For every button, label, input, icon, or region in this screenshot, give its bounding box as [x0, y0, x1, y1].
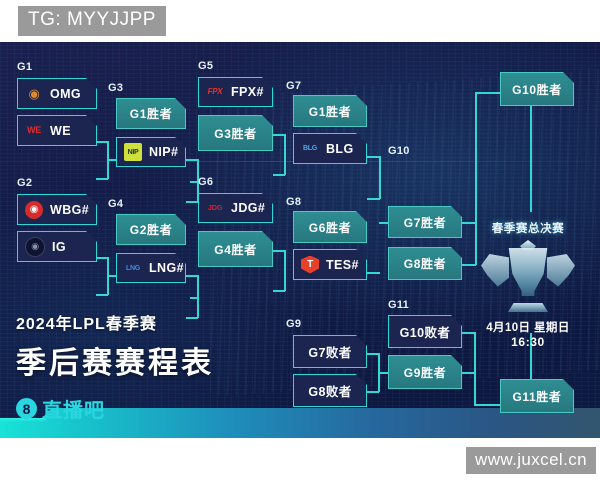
team-name: FPX# [231, 85, 264, 99]
team-name: NIP# [149, 145, 178, 159]
match-slot-g11-top[interactable]: G10败者 [388, 315, 462, 348]
brand-mark-icon: 8 [16, 398, 37, 419]
match-slot-g3-top[interactable]: G1胜者 [116, 98, 186, 129]
finals-title: 春季赛总决赛 [468, 220, 588, 236]
connector [107, 159, 116, 161]
match-slot-final-top[interactable]: G10胜者 [500, 72, 574, 106]
slot-label: G2胜者 [130, 221, 172, 238]
connector [474, 372, 476, 404]
team-logo-nip: NIP [124, 143, 142, 161]
slot-label: G9胜者 [404, 364, 446, 381]
poster-subtitle: 2024年LPL春季赛 [16, 310, 214, 334]
team-name: OMG [50, 87, 81, 101]
group-label-g9: G9 [286, 318, 301, 330]
team-logo-omg: ◉ [25, 85, 43, 103]
team-name: IG [52, 240, 66, 254]
slot-label: G4胜者 [214, 241, 256, 258]
group-label-g6: G6 [198, 176, 213, 188]
connector [530, 106, 532, 212]
match-slot-g2-bottom[interactable]: ◉ IG [17, 231, 97, 262]
match-slot-g7-bottom[interactable]: BLG BLG [293, 133, 367, 164]
slot-label: G8胜者 [404, 255, 446, 272]
connector [474, 404, 500, 406]
finals-date: 4月10日 星期日 [468, 319, 588, 335]
trophy-cup [505, 248, 551, 298]
slot-label: G10败者 [400, 322, 451, 341]
team-name: JDG# [231, 201, 265, 215]
trophy-wing-left [481, 254, 509, 288]
team-name: BLG [326, 142, 354, 156]
match-slot-g6-top[interactable]: JDG JDG# [198, 193, 273, 223]
match-slot-g1-top[interactable]: ◉ OMG [17, 78, 97, 109]
brand-logo: 8 直播吧 [16, 394, 214, 423]
match-slot-g8-top[interactable]: G6胜者 [293, 211, 367, 243]
top-watermark: TG: MYYJJPP [18, 6, 166, 36]
match-slot-g4-bottom[interactable]: LNG LNG# [116, 253, 186, 283]
group-label-g7: G7 [286, 80, 301, 92]
group-label-g3: G3 [108, 82, 123, 94]
poster-title: 季后赛赛程表 [16, 338, 214, 382]
trophy-wing-right [547, 254, 575, 288]
team-logo-we: WE [25, 122, 43, 140]
match-slot-g10-top[interactable]: G7胜者 [388, 206, 462, 238]
slot-label: G8败者 [308, 381, 351, 400]
connector [107, 275, 116, 277]
slot-label: G11胜者 [512, 388, 561, 405]
connector [367, 272, 380, 274]
team-logo-jdg: JDG [206, 199, 224, 217]
team-logo-ig: ◉ [25, 237, 45, 257]
match-slot-final-bottom[interactable]: G11胜者 [500, 379, 574, 413]
slot-label: G1胜者 [130, 105, 172, 122]
slot-label: G10胜者 [512, 81, 562, 98]
connector [475, 92, 500, 94]
site-watermark: www.juxcel.cn [466, 447, 596, 474]
brand-name: 直播吧 [42, 394, 105, 423]
match-slot-g2-top[interactable]: ◉ WBG# [17, 194, 97, 225]
match-slot-g11-bottom[interactable]: G9胜者 [388, 355, 462, 389]
match-slot-g9-bottom[interactable]: G8败者 [293, 374, 367, 407]
group-label-g10: G10 [388, 145, 410, 157]
team-logo-blg: BLG [301, 140, 319, 158]
group-label-g1: G1 [17, 61, 32, 73]
slot-label: G7胜者 [404, 214, 446, 231]
slot-label: G1胜者 [309, 103, 351, 120]
slot-label: G7败者 [308, 342, 351, 361]
connector [190, 297, 199, 299]
match-slot-g10-bottom[interactable]: G8胜者 [388, 247, 462, 280]
team-logo-fpx: FPX [206, 83, 224, 101]
connector [379, 156, 381, 199]
match-slot-g4-top[interactable]: G2胜者 [116, 214, 186, 245]
group-label-g11: G11 [388, 299, 409, 311]
team-name: LNG# [149, 261, 184, 275]
trophy-icon [480, 238, 576, 316]
group-label-g2: G2 [17, 177, 32, 189]
connector [284, 250, 286, 291]
connector [379, 222, 388, 224]
group-label-g5: G5 [198, 60, 213, 72]
slot-label: G6胜者 [309, 219, 351, 236]
match-slot-g5-top[interactable]: FPX FPX# [198, 77, 273, 107]
match-slot-g8-bottom[interactable]: T TES# [293, 249, 367, 280]
connector [284, 134, 286, 175]
team-name: WBG# [50, 203, 89, 217]
team-logo-tes: T [301, 256, 319, 274]
connector [378, 372, 388, 374]
group-label-g4: G4 [108, 198, 123, 210]
match-slot-g1-bottom[interactable]: WE WE [17, 115, 97, 146]
team-logo-wbg: ◉ [25, 201, 43, 219]
match-slot-g9-top[interactable]: G7败者 [293, 335, 367, 368]
team-logo-lng: LNG [124, 259, 142, 277]
team-name: WE [50, 124, 71, 138]
match-slot-g3-bottom[interactable]: NIP NIP# [116, 137, 186, 167]
bracket-poster: G1 ◉ OMG WE WE G2 ◉ WBG# ◉ IG G3 G1胜者 NI… [0, 42, 600, 438]
finals-block: 春季赛总决赛 4月10日 星期日 16:30 [468, 220, 588, 349]
match-slot-g6-bottom[interactable]: G4胜者 [198, 231, 273, 267]
match-slot-g5-bottom[interactable]: G3胜者 [198, 115, 273, 151]
finals-time: 16:30 [468, 335, 588, 349]
slot-label: G3胜者 [214, 125, 256, 142]
match-slot-g7-top[interactable]: G1胜者 [293, 95, 367, 127]
poster-title-block: 2024年LPL春季赛 季后赛赛程表 8 直播吧 [16, 310, 214, 423]
team-name: TES# [326, 258, 359, 272]
group-label-g8: G8 [286, 196, 301, 208]
trophy-base [508, 303, 548, 312]
